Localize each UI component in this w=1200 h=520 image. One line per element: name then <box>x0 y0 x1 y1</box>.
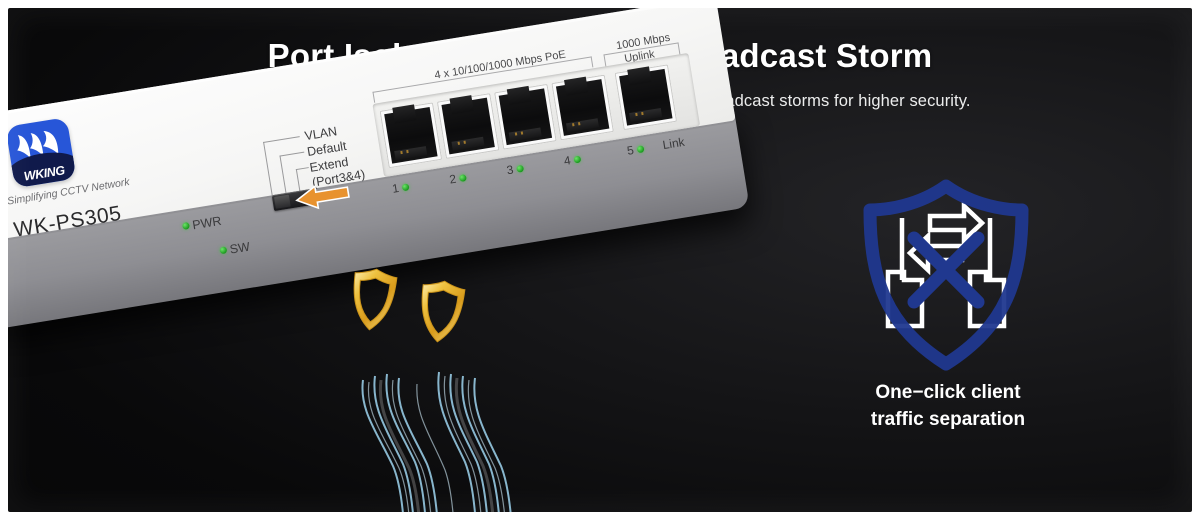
rj45-port-3[interactable] <box>494 84 557 150</box>
port-number-1: 1 <box>391 181 400 196</box>
port-number-2: 2 <box>448 172 457 187</box>
port-indicator-1: 1 <box>391 179 410 196</box>
port-led-1-icon <box>402 184 410 192</box>
port-indicator-5: 5 <box>626 141 645 158</box>
port-indicator-4: 4 <box>563 152 582 169</box>
feature-caption-line2: traffic separation <box>788 407 1108 434</box>
port-protection-shield-icon-1 <box>346 265 399 334</box>
rj45-port-4[interactable] <box>551 75 614 141</box>
port-number-4: 4 <box>563 153 572 168</box>
rj45-port-2[interactable] <box>437 93 500 159</box>
feature-caption: One−click client traffic separation <box>788 380 1108 434</box>
isolation-shield-icon <box>846 176 1046 372</box>
pwr-label: PWR <box>191 214 222 232</box>
port-led-4-icon <box>573 156 581 164</box>
logo-badge: WKING <box>8 117 76 188</box>
network-switch-photo: WKING Simplifying CCTV Network WK-PS305 … <box>8 120 788 512</box>
port-number-5: 5 <box>626 143 635 158</box>
dark-stage: Port Isolation to Prevent Broadcast Stor… <box>8 8 1192 512</box>
port-led-2-icon <box>459 174 467 182</box>
sw-led-icon <box>219 247 227 255</box>
port-protection-shield-icon-2 <box>414 277 467 346</box>
rj45-port-1[interactable] <box>380 102 443 168</box>
rj45-port-5-uplink[interactable] <box>615 64 678 130</box>
port-led-5-icon <box>637 146 645 154</box>
port-indicator-3: 3 <box>506 161 525 178</box>
promo-banner: Port Isolation to Prevent Broadcast Stor… <box>0 0 1200 520</box>
port-indicator-2: 2 <box>448 170 467 187</box>
port-led-3-icon <box>516 165 524 173</box>
sw-label: SW <box>229 239 251 256</box>
brand-logo: WKING <box>8 117 76 188</box>
feature-caption-line1: One−click client <box>788 380 1108 407</box>
data-flow-streams <box>353 370 673 512</box>
pwr-led-icon <box>182 222 190 230</box>
port-number-3: 3 <box>506 162 515 177</box>
